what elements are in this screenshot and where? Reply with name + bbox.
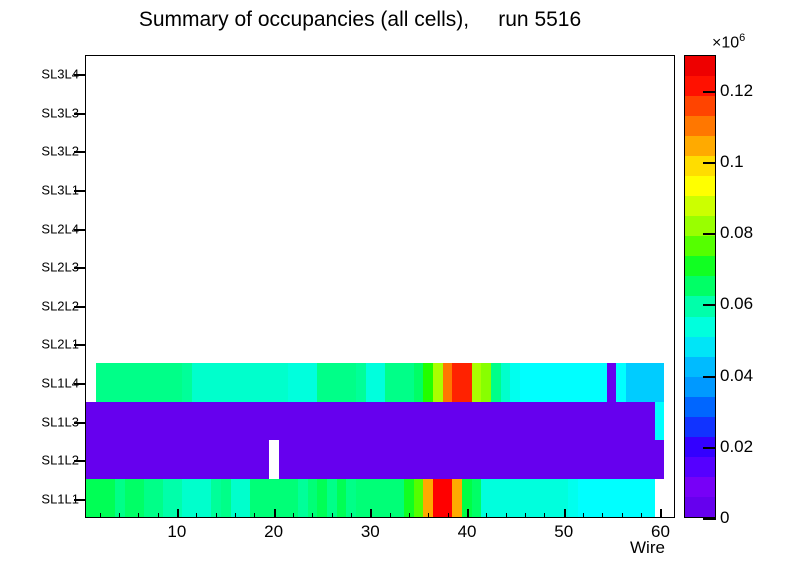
- heatmap-cell: [317, 479, 327, 517]
- heatmap-cell: [597, 171, 607, 209]
- heatmap-cell: [298, 56, 308, 94]
- heatmap-cell: [404, 440, 414, 478]
- heatmap-cell: [288, 325, 298, 363]
- heatmap-cell: [211, 171, 221, 209]
- heatmap-cell: [385, 56, 395, 94]
- heatmap-cell: [462, 287, 472, 325]
- heatmap-cell: [414, 440, 424, 478]
- heatmap-cell: [279, 440, 289, 478]
- heatmap-cell: [578, 171, 588, 209]
- heatmap-cell: [645, 479, 655, 517]
- heatmap-cell: [182, 94, 192, 132]
- heatmap-cell: [443, 440, 453, 478]
- heatmap-cell: [144, 248, 154, 286]
- heatmap-cell: [105, 325, 115, 363]
- heatmap-cell: [664, 133, 674, 171]
- heatmap-cell: [645, 133, 655, 171]
- heatmap-cell: [105, 287, 115, 325]
- heatmap-cell: [96, 287, 106, 325]
- heatmap-cell: [144, 440, 154, 478]
- heatmap-cell: [134, 248, 144, 286]
- heatmap-cell: [134, 325, 144, 363]
- heatmap-cell: [317, 248, 327, 286]
- heatmap-cell: [568, 171, 578, 209]
- heatmap-cell: [260, 171, 270, 209]
- heatmap-cell: [250, 56, 260, 94]
- heatmap-cell: [414, 287, 424, 325]
- x-axis-tick: [660, 509, 662, 518]
- heatmap-cell: [423, 325, 433, 363]
- heatmap-cell: [356, 94, 366, 132]
- heatmap-cell: [510, 56, 520, 94]
- heatmap-cell: [231, 479, 241, 517]
- heatmap-cell: [346, 133, 356, 171]
- heatmap-cell: [549, 325, 559, 363]
- heatmap-cell: [153, 56, 163, 94]
- heatmap-cell: [231, 363, 241, 401]
- heatmap-cell: [481, 210, 491, 248]
- heatmap-cell: [626, 133, 636, 171]
- heatmap-cell: [395, 171, 405, 209]
- heatmap-cell: [616, 94, 626, 132]
- heatmap-cell: [549, 133, 559, 171]
- heatmap-cell: [529, 287, 539, 325]
- heatmap-cell: [366, 287, 376, 325]
- heatmap-cell: [86, 56, 96, 94]
- heatmap-cell: [308, 248, 318, 286]
- heatmap-cell: [587, 94, 597, 132]
- heatmap-cell: [607, 56, 617, 94]
- heatmap-cell: [250, 363, 260, 401]
- heatmap-cell: [664, 402, 674, 440]
- heatmap-cell: [115, 479, 125, 517]
- heatmap-cell: [501, 94, 511, 132]
- heatmap-cell: [144, 402, 154, 440]
- heatmap-cell: [115, 171, 125, 209]
- y-axis-label-sl3l2: SL3L2: [41, 144, 79, 159]
- heatmap-cell: [423, 479, 433, 517]
- heatmap-cell: [366, 440, 376, 478]
- heatmap-cell: [211, 133, 221, 171]
- heatmap-cell: [481, 325, 491, 363]
- heatmap-cell: [655, 56, 665, 94]
- heatmap-cell: [616, 479, 626, 517]
- heatmap-cell: [211, 325, 221, 363]
- heatmap-cell: [144, 363, 154, 401]
- heatmap-cell: [279, 363, 289, 401]
- heatmap-cell: [115, 287, 125, 325]
- heatmap-cell: [520, 210, 530, 248]
- heatmap-cell: [664, 287, 674, 325]
- heatmap-cell: [96, 479, 106, 517]
- heatmap-cell: [433, 248, 443, 286]
- heatmap-cell: [385, 440, 395, 478]
- heatmap-cell: [395, 210, 405, 248]
- heatmap-cell: [231, 287, 241, 325]
- heatmap-cell: [587, 402, 597, 440]
- palette-strip: [685, 176, 715, 196]
- heatmap-cell: [260, 325, 270, 363]
- heatmap-cell: [163, 210, 173, 248]
- heatmap-cell: [211, 248, 221, 286]
- heatmap-cell: [115, 94, 125, 132]
- x-axis-label: 50: [554, 522, 573, 542]
- heatmap-cell: [636, 479, 646, 517]
- heatmap-cell: [452, 56, 462, 94]
- palette-strip: [685, 317, 715, 337]
- color-palette-axis: 00.020.040.060.080.10.12: [716, 55, 796, 518]
- heatmap-cell: [192, 325, 202, 363]
- heatmap-cell: [182, 56, 192, 94]
- heatmap-cell: [395, 248, 405, 286]
- heatmap-cell: [597, 479, 607, 517]
- palette-tick: [703, 376, 716, 378]
- heatmap-cell: [163, 479, 173, 517]
- heatmap-cell: [443, 325, 453, 363]
- heatmap-cell: [182, 171, 192, 209]
- heatmap-cell: [337, 94, 347, 132]
- heatmap-cell: [607, 287, 617, 325]
- heatmap-cell: [626, 248, 636, 286]
- heatmap-cell: [153, 402, 163, 440]
- heatmap-cell: [481, 171, 491, 209]
- heatmap-cell: [539, 94, 549, 132]
- palette-tick-label: 0.06: [720, 294, 753, 314]
- heatmap-cell: [433, 56, 443, 94]
- heatmap-cell: [86, 402, 96, 440]
- heatmap-cell: [327, 248, 337, 286]
- palette-strip: [685, 196, 715, 216]
- heatmap-cell: [607, 325, 617, 363]
- x-axis-minor-tick: [622, 513, 623, 518]
- heatmap-cell: [414, 363, 424, 401]
- heatmap-cell: [366, 171, 376, 209]
- heatmap-cell: [472, 402, 482, 440]
- heatmap-cell: [327, 325, 337, 363]
- heatmap-cell: [192, 210, 202, 248]
- heatmap-cell: [423, 171, 433, 209]
- heatmap-cell: [288, 287, 298, 325]
- heatmap-cell: [317, 94, 327, 132]
- x-axis-label: 10: [167, 522, 186, 542]
- heatmap-cell: [337, 325, 347, 363]
- heatmap-cell: [221, 248, 231, 286]
- heatmap-cell: [558, 133, 568, 171]
- x-axis-minor-tick: [544, 513, 545, 518]
- heatmap-cells: [86, 56, 674, 517]
- heatmap-cell: [153, 325, 163, 363]
- heatmap-cell: [298, 440, 308, 478]
- heatmap-cell: [578, 287, 588, 325]
- heatmap-cell: [385, 133, 395, 171]
- heatmap-cell: [250, 479, 260, 517]
- heatmap-cell: [414, 133, 424, 171]
- heatmap-cell: [366, 402, 376, 440]
- heatmap-cell: [664, 479, 674, 517]
- heatmap-cell: [607, 479, 617, 517]
- heatmap-cell: [173, 325, 183, 363]
- heatmap-cell: [636, 210, 646, 248]
- heatmap-row-sl2l3: [86, 248, 674, 286]
- heatmap-cell: [443, 287, 453, 325]
- heatmap-cell: [125, 56, 135, 94]
- heatmap-cell: [221, 210, 231, 248]
- heatmap-cell: [173, 210, 183, 248]
- heatmap-cell: [529, 94, 539, 132]
- heatmap-cell: [221, 171, 231, 209]
- heatmap-cell: [587, 56, 597, 94]
- heatmap-cell: [288, 479, 298, 517]
- heatmap-cell: [240, 325, 250, 363]
- heatmap-cell: [501, 133, 511, 171]
- heatmap-cell: [539, 133, 549, 171]
- heatmap-cell: [385, 248, 395, 286]
- x-axis-minor-tick: [312, 513, 313, 518]
- x-axis-minor-tick: [602, 513, 603, 518]
- palette-exponent-power: 6: [739, 32, 745, 44]
- heatmap-cell: [317, 402, 327, 440]
- heatmap-cell: [125, 133, 135, 171]
- heatmap-cell: [250, 171, 260, 209]
- heatmap-cell: [173, 363, 183, 401]
- heatmap-cell: [404, 210, 414, 248]
- heatmap-cell: [356, 248, 366, 286]
- heatmap-cell: [472, 171, 482, 209]
- heatmap-row-sl1l1: [86, 479, 674, 517]
- palette-strip: [685, 457, 715, 477]
- heatmap-cell: [375, 479, 385, 517]
- heatmap-cell: [125, 479, 135, 517]
- heatmap-cell: [250, 133, 260, 171]
- heatmap-cell: [125, 363, 135, 401]
- heatmap-cell: [664, 210, 674, 248]
- heatmap-cell: [317, 56, 327, 94]
- heatmap-cell: [645, 287, 655, 325]
- heatmap-cell: [202, 56, 212, 94]
- heatmap-cell: [375, 133, 385, 171]
- heatmap-cell: [597, 440, 607, 478]
- palette-strip: [685, 96, 715, 116]
- x-axis-title: Wire: [630, 538, 665, 558]
- heatmap-cell: [250, 94, 260, 132]
- heatmap-cell: [96, 56, 106, 94]
- heatmap-cell: [279, 133, 289, 171]
- x-axis-minor-tick: [119, 513, 120, 518]
- heatmap-cell: [308, 402, 318, 440]
- heatmap-cell: [433, 133, 443, 171]
- heatmap-cell: [664, 94, 674, 132]
- x-axis-minor-tick: [235, 513, 236, 518]
- heatmap-cell: [636, 133, 646, 171]
- heatmap-cell: [481, 440, 491, 478]
- heatmap-cell: [491, 325, 501, 363]
- heatmap-cell: [520, 325, 530, 363]
- heatmap-cell: [520, 402, 530, 440]
- heatmap-cell: [443, 402, 453, 440]
- heatmap-cell: [481, 287, 491, 325]
- heatmap-cell: [337, 56, 347, 94]
- heatmap-cell: [327, 210, 337, 248]
- heatmap-cell: [153, 363, 163, 401]
- heatmap-cell: [501, 171, 511, 209]
- palette-exponent-label: ×106: [712, 32, 745, 52]
- heatmap-cell: [385, 210, 395, 248]
- heatmap-cell: [317, 171, 327, 209]
- heatmap-cell: [288, 133, 298, 171]
- heatmap-row-sl2l2: [86, 287, 674, 325]
- heatmap-cell: [452, 210, 462, 248]
- x-axis-tick: [177, 509, 179, 518]
- heatmap-cell: [182, 287, 192, 325]
- heatmap-cell: [510, 248, 520, 286]
- heatmap-cell: [597, 56, 607, 94]
- heatmap-cell: [636, 287, 646, 325]
- heatmap-cell: [231, 56, 241, 94]
- heatmap-cell: [202, 440, 212, 478]
- heatmap-cell: [655, 133, 665, 171]
- heatmap-cell: [96, 210, 106, 248]
- heatmap-cell: [452, 94, 462, 132]
- heatmap-cell: [211, 94, 221, 132]
- heatmap-cell: [182, 133, 192, 171]
- heatmap-cell: [472, 210, 482, 248]
- heatmap-cell: [356, 479, 366, 517]
- heatmap-cell: [192, 402, 202, 440]
- heatmap-cell: [366, 248, 376, 286]
- heatmap-cell: [568, 325, 578, 363]
- heatmap-cell: [153, 440, 163, 478]
- heatmap-cell: [558, 56, 568, 94]
- heatmap-cell: [298, 171, 308, 209]
- palette-tick-label: 0: [720, 508, 729, 528]
- heatmap-cell: [308, 171, 318, 209]
- heatmap-cell: [549, 402, 559, 440]
- palette-strip: [685, 116, 715, 136]
- heatmap-cell: [597, 325, 607, 363]
- heatmap-cell: [308, 133, 318, 171]
- heatmap-cell: [655, 440, 665, 478]
- heatmap-cell: [404, 287, 414, 325]
- palette-tick-label: 0.08: [720, 223, 753, 243]
- heatmap-cell: [501, 440, 511, 478]
- heatmap-cell: [645, 325, 655, 363]
- heatmap-cell: [578, 248, 588, 286]
- heatmap-cell: [664, 248, 674, 286]
- heatmap-cell: [366, 56, 376, 94]
- heatmap-cell: [655, 287, 665, 325]
- heatmap-cell: [105, 363, 115, 401]
- heatmap-cell: [607, 440, 617, 478]
- heatmap-cell: [452, 171, 462, 209]
- heatmap-cell: [539, 287, 549, 325]
- heatmap-cell: [105, 94, 115, 132]
- heatmap-cell: [288, 440, 298, 478]
- heatmap-cell: [96, 325, 106, 363]
- heatmap-cell: [308, 287, 318, 325]
- x-axis-tick: [467, 509, 469, 518]
- heatmap-cell: [597, 94, 607, 132]
- heatmap-cell: [587, 287, 597, 325]
- heatmap-cell: [173, 133, 183, 171]
- heatmap-cell: [578, 363, 588, 401]
- heatmap-cell: [240, 440, 250, 478]
- heatmap-cell: [202, 210, 212, 248]
- heatmap-cell: [269, 56, 279, 94]
- palette-tick: [703, 518, 716, 520]
- heatmap-cell: [568, 479, 578, 517]
- heatmap-cell: [520, 133, 530, 171]
- heatmap-cell: [481, 248, 491, 286]
- heatmap-cell: [231, 402, 241, 440]
- heatmap-cell: [163, 248, 173, 286]
- y-axis-label-sl2l2: SL2L2: [41, 298, 79, 313]
- heatmap-cell: [269, 287, 279, 325]
- heatmap-cell: [491, 479, 501, 517]
- y-axis-label-sl3l3: SL3L3: [41, 105, 79, 120]
- heatmap-cell: [260, 363, 270, 401]
- heatmap-cell: [298, 94, 308, 132]
- heatmap-cell: [86, 248, 96, 286]
- heatmap-cell: [597, 402, 607, 440]
- heatmap-cell: [472, 479, 482, 517]
- heatmap-cell: [452, 133, 462, 171]
- heatmap-cell: [240, 287, 250, 325]
- heatmap-cell: [616, 402, 626, 440]
- heatmap-cell: [125, 171, 135, 209]
- palette-strip: [685, 337, 715, 357]
- heatmap-cell: [568, 94, 578, 132]
- heatmap-cell: [231, 210, 241, 248]
- heatmap-cell: [558, 402, 568, 440]
- heatmap-cell: [356, 56, 366, 94]
- heatmap-cell: [192, 363, 202, 401]
- heatmap-cell: [636, 363, 646, 401]
- heatmap-cell: [607, 402, 617, 440]
- heatmap-cell: [549, 363, 559, 401]
- heatmap-cell: [356, 363, 366, 401]
- x-axis-minor-tick: [448, 513, 449, 518]
- heatmap-cell: [607, 363, 617, 401]
- heatmap-cell: [443, 210, 453, 248]
- heatmap-cell: [96, 363, 106, 401]
- heatmap-cell: [192, 287, 202, 325]
- heatmap-cell: [134, 440, 144, 478]
- heatmap-cell: [327, 287, 337, 325]
- heatmap-cell: [423, 363, 433, 401]
- heatmap-cell: [240, 210, 250, 248]
- heatmap-cell: [240, 479, 250, 517]
- heatmap-cell: [192, 133, 202, 171]
- heatmap-cell: [501, 325, 511, 363]
- heatmap-cell: [317, 440, 327, 478]
- heatmap-cell: [173, 94, 183, 132]
- heatmap-cell: [607, 94, 617, 132]
- heatmap-cell: [366, 94, 376, 132]
- heatmap-cell: [240, 133, 250, 171]
- x-axis-minor-tick: [506, 513, 507, 518]
- heatmap-cell: [288, 363, 298, 401]
- heatmap-cell: [558, 325, 568, 363]
- heatmap-cell: [202, 248, 212, 286]
- heatmap-cell: [423, 287, 433, 325]
- heatmap-cell: [115, 363, 125, 401]
- heatmap-cell: [616, 325, 626, 363]
- heatmap-cell: [616, 363, 626, 401]
- heatmap-cell: [279, 248, 289, 286]
- heatmap-cell: [105, 248, 115, 286]
- heatmap-row-sl2l4: [86, 210, 674, 248]
- heatmap-cell: [510, 171, 520, 209]
